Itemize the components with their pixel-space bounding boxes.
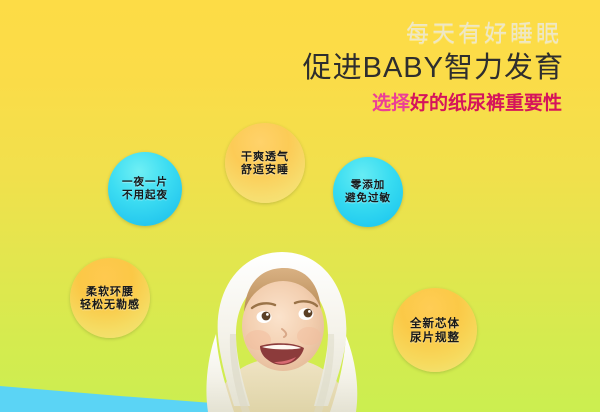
baby-photo bbox=[196, 230, 366, 412]
promo-banner: 每天有好睡眠 促进BABY智力发育 选择好的纸尿裤重要性 一夜一片 不用起夜 干… bbox=[0, 0, 600, 412]
headline-tagline-emphasis: 好的纸尿裤重要性 bbox=[410, 93, 562, 114]
feature-bubble-new-core[interactable]: 全新芯体 尿片规整 bbox=[393, 288, 477, 372]
feature-bubble-line2: 避免过敏 bbox=[345, 192, 391, 205]
feature-bubble-line2: 轻松无勒感 bbox=[80, 298, 140, 311]
headline-subtitle-top: 每天有好睡眠 bbox=[303, 22, 564, 45]
headline-block: 每天有好睡眠 促进BABY智力发育 选择好的纸尿裤重要性 bbox=[303, 22, 564, 113]
headline-main-title: 促进BABY智力发育 bbox=[303, 54, 564, 83]
feature-bubble-one-piece-all-night[interactable]: 一夜一片 不用起夜 bbox=[108, 152, 182, 226]
feature-bubble-line1: 零添加 bbox=[351, 179, 386, 192]
feature-bubble-line2: 尿片规整 bbox=[410, 330, 460, 344]
headline-tagline: 选择好的纸尿裤重要性 bbox=[303, 94, 564, 113]
feature-bubble-line2: 不用起夜 bbox=[122, 189, 168, 202]
feature-bubble-line2: 舒适安睡 bbox=[241, 163, 289, 176]
feature-bubble-line1: 干爽透气 bbox=[241, 150, 289, 163]
feature-bubble-no-additives[interactable]: 零添加 避免过敏 bbox=[333, 157, 403, 227]
headline-tagline-prefix: 选择 bbox=[372, 93, 410, 114]
feature-bubble-soft-waistband[interactable]: 柔软环腰 轻松无勒感 bbox=[70, 258, 150, 338]
feature-bubble-line1: 一夜一片 bbox=[122, 176, 168, 189]
baby-photo-illustration bbox=[196, 230, 366, 412]
feature-bubble-line1: 柔软环腰 bbox=[86, 285, 134, 298]
feature-bubble-dry-breathable[interactable]: 干爽透气 舒适安睡 bbox=[225, 123, 305, 203]
feature-bubble-line1: 全新芯体 bbox=[410, 316, 460, 330]
